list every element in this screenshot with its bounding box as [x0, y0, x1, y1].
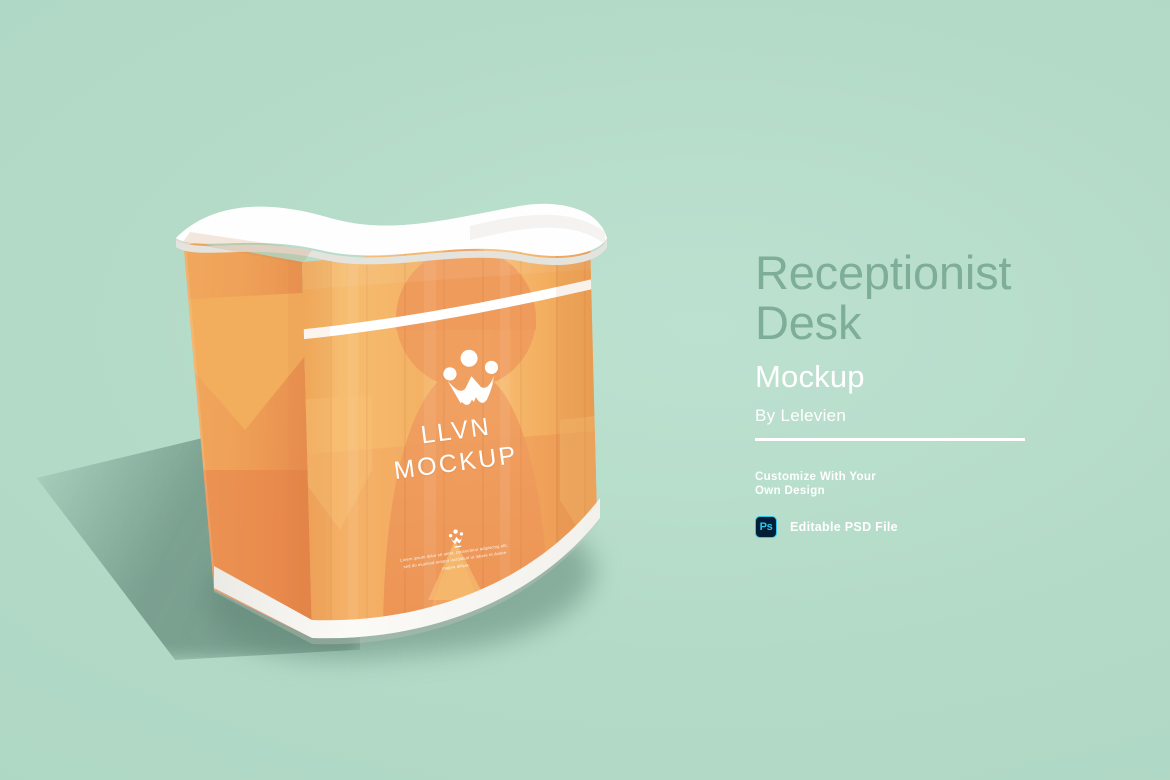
byline: By Lelevien: [755, 406, 1155, 426]
mockup-scene: LLVN MOCKUP Lorem ipsum dolor sit amet, …: [0, 0, 1170, 780]
psd-row: Ps Editable PSD File: [755, 516, 1155, 538]
page-title: Receptionist Desk: [755, 248, 1155, 348]
customize-line-1: Customize With Your: [755, 470, 1155, 484]
title-line-2: Desk: [755, 298, 1155, 348]
divider-rule: [755, 438, 1025, 441]
customize-note: Customize With Your Own Design: [755, 470, 1155, 498]
subtitle: Mockup: [755, 360, 1155, 394]
photoshop-icon: Ps: [755, 516, 777, 538]
customize-line-2: Own Design: [755, 484, 1155, 498]
copy-block: Receptionist Desk Mockup By Lelevien Cus…: [755, 248, 1155, 538]
title-line-1: Receptionist: [755, 246, 1011, 299]
psd-file-label: Editable PSD File: [790, 520, 898, 534]
